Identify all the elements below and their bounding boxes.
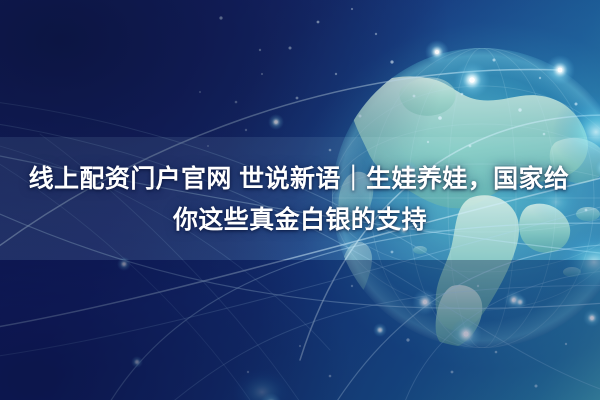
tone-band-lower xyxy=(0,260,600,400)
tone-band-middle xyxy=(0,137,600,260)
banner-image: 线上配资门户官网 世说新语｜生娃养娃，国家给 你这些真金白银的支持 xyxy=(0,0,600,400)
